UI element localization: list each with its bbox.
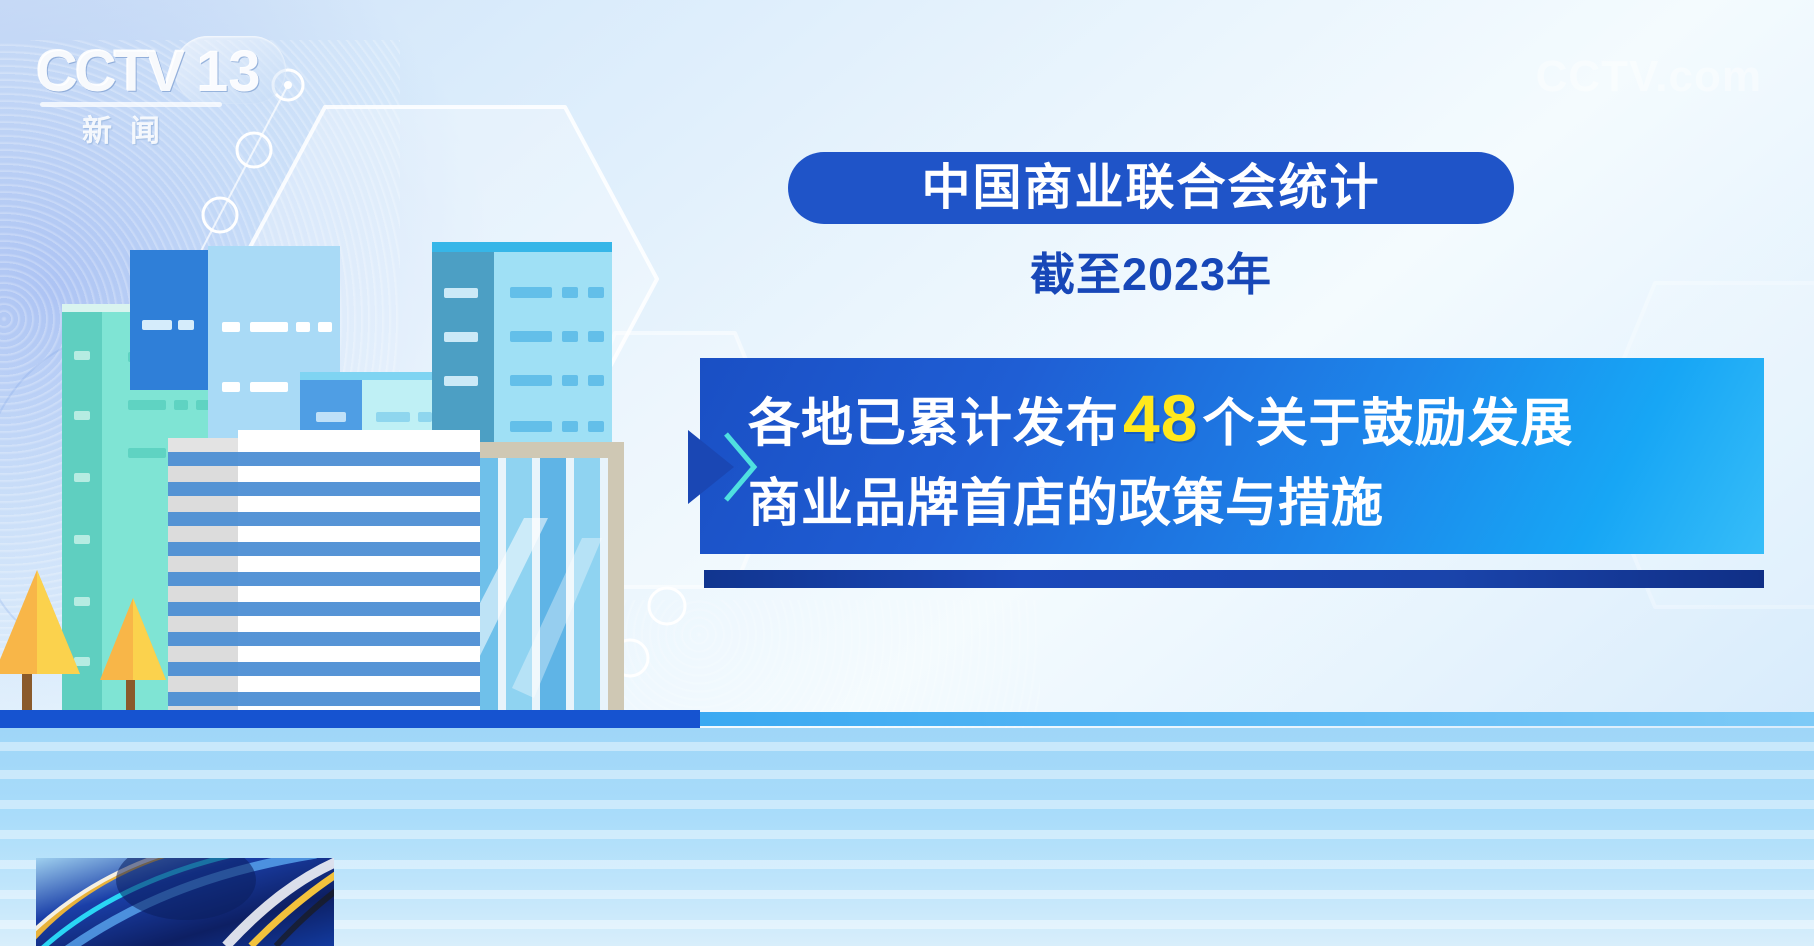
- statement-suffix: 个关于鼓励发展: [1202, 395, 1573, 453]
- building-tall-roof: [432, 242, 612, 252]
- statement-line-1: 各地已累计发布48个关于鼓励发展: [748, 385, 1764, 451]
- ground-bar-left: [0, 710, 700, 728]
- window: [418, 412, 432, 422]
- cctv13-logo: CCTV 13 新闻: [36, 34, 286, 138]
- window: [318, 322, 332, 332]
- window: [74, 535, 90, 544]
- window: [588, 375, 604, 386]
- statement-line-2: 商业品牌首店的政策与措施: [748, 478, 1764, 530]
- building-striped-cap-left: [168, 438, 238, 452]
- headline-subtitle: 截至2023年: [788, 238, 1514, 303]
- window: [444, 288, 478, 298]
- window: [444, 376, 478, 386]
- window: [74, 473, 90, 482]
- window: [562, 287, 578, 298]
- window: [562, 421, 578, 432]
- window: [510, 421, 552, 432]
- window: [250, 382, 288, 392]
- window: [588, 287, 604, 298]
- window: [74, 351, 90, 360]
- window: [376, 412, 410, 422]
- cctv-com-watermark: CCTV.com: [1536, 52, 1762, 102]
- window: [510, 331, 552, 342]
- window: [174, 400, 188, 410]
- building-stripes: [168, 452, 480, 710]
- window: [510, 375, 552, 386]
- building-mid-roof: [300, 372, 448, 380]
- news-bumper-thumbnail[interactable]: [36, 858, 334, 946]
- window: [562, 375, 578, 386]
- statement-underbar: [704, 570, 1764, 588]
- city-skyline-illustration: [0, 190, 700, 710]
- window: [128, 448, 166, 458]
- logo-cctv-text: CCTV: [36, 38, 182, 105]
- ground-bar-right: [700, 712, 1814, 726]
- thumbnail-artwork: [36, 858, 334, 946]
- statement-highlight-number: 48: [1119, 381, 1202, 455]
- window: [250, 322, 288, 332]
- window: [296, 322, 310, 332]
- window: [444, 332, 478, 342]
- building-striped-cap: [238, 430, 480, 452]
- window: [316, 412, 346, 422]
- headline-pill: 中国商业联合会统计: [788, 152, 1514, 224]
- window: [128, 400, 166, 410]
- window: [178, 320, 194, 330]
- window: [222, 322, 240, 332]
- window: [588, 421, 604, 432]
- window: [222, 382, 240, 392]
- logo-subtitle-xinwen: 新闻: [82, 106, 178, 150]
- statement-prefix: 各地已累计发布: [748, 395, 1119, 453]
- window: [510, 287, 552, 298]
- window: [588, 331, 604, 342]
- tree-foliage: [98, 598, 168, 684]
- glass-reflection: [462, 458, 608, 710]
- tree-foliage: [0, 570, 82, 680]
- window: [562, 331, 578, 342]
- window: [142, 320, 172, 330]
- headline-pill-text: 中国商业联合会统计: [921, 164, 1380, 213]
- logo-channel-number: 13: [196, 38, 261, 105]
- broadcast-graphic-screen: CCTV 13 新闻 CCTV.com: [0, 0, 1814, 946]
- arrow-marker-icon: [688, 430, 754, 504]
- window: [74, 411, 90, 420]
